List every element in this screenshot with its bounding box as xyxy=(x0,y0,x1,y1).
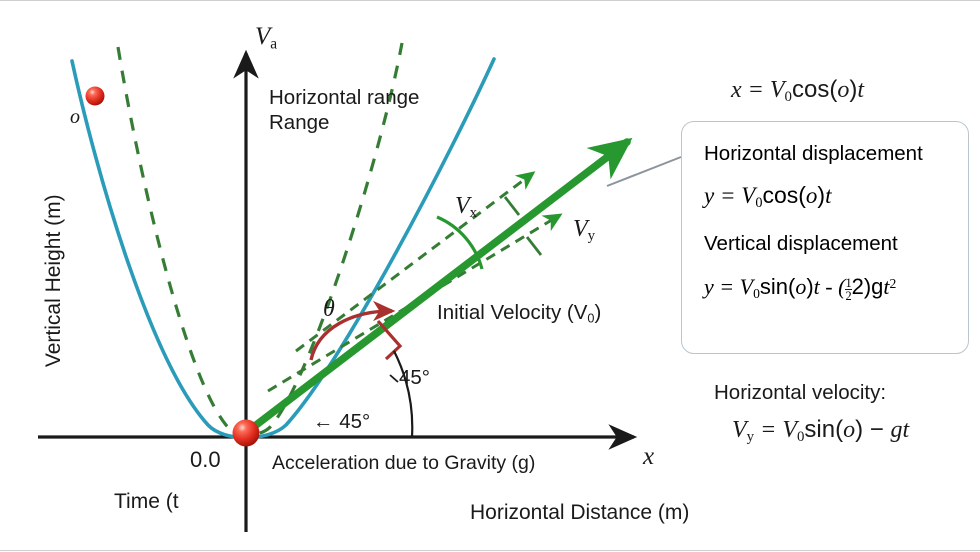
angle-arc-upper xyxy=(394,351,412,437)
c2-lhs: y xyxy=(704,183,714,208)
hv-arg: o xyxy=(843,417,855,443)
vy-label: Vy xyxy=(573,216,595,245)
c4-equals: = xyxy=(714,274,740,299)
equation-vertical-displacement: y = V0sin(o)t - (122)gt2 xyxy=(704,274,896,302)
va-subscript: a xyxy=(270,35,277,52)
projectile-ball-origin xyxy=(233,420,260,447)
callout-leader-line xyxy=(607,157,681,186)
x-axis-arrow-label: x xyxy=(643,443,654,471)
vy-base: V xyxy=(573,216,588,242)
y-axis-title: Vertical Height (m) xyxy=(42,131,66,431)
range-label: Range xyxy=(269,112,329,135)
hv-lhs-sub: y xyxy=(747,429,754,445)
c2-equals: = xyxy=(714,183,741,208)
equation-horizontal-velocity: Vy = V0sin(o) − gt xyxy=(732,417,909,446)
c2-tail: t xyxy=(825,183,831,208)
c4-arg-close: ) xyxy=(806,274,813,299)
hv-v: V xyxy=(782,417,797,443)
c4-mid: t - ( xyxy=(814,274,846,299)
c4-arg: o xyxy=(795,274,806,299)
eq-top-tail: t xyxy=(857,77,864,103)
horizontal-range-label: Horizontal range xyxy=(269,87,419,110)
horizontal-displacement-title: Horizontal displacement xyxy=(704,142,923,166)
hv-lhs: V xyxy=(732,417,747,443)
fraction-denominator: 2 xyxy=(845,289,851,302)
hv-g: g xyxy=(890,417,902,443)
c4-func: sin xyxy=(760,274,788,299)
hv-arg-close: ) xyxy=(855,416,863,443)
hv-equals: = xyxy=(754,417,782,443)
theta-label: θ xyxy=(323,296,335,323)
vy-subscript: y xyxy=(588,228,595,244)
eq-top-lhs: x xyxy=(731,77,742,103)
c4-g: g xyxy=(871,274,883,299)
fraction-numerator: 1 xyxy=(845,277,851,289)
c4-lhs: y xyxy=(704,274,714,299)
horizontal-velocity-title: Horizontal velocity: xyxy=(714,382,886,405)
hv-func: sin xyxy=(804,416,835,443)
eq-top-v-sub: 0 xyxy=(785,89,792,105)
angle-arc-leader xyxy=(390,375,398,382)
angle-lower-value: 45° xyxy=(339,410,370,433)
c2-arg: o xyxy=(806,183,818,208)
vy-tick xyxy=(527,237,541,255)
c4-v-sub: 0 xyxy=(753,286,760,301)
vx-subscript: x xyxy=(470,205,477,221)
eq-top-func: cos xyxy=(792,76,829,103)
equation-horizontal-x: x = V0cos(o)t xyxy=(731,77,864,106)
hv-arg-open: ( xyxy=(835,416,843,443)
equation-horizontal-displacement: y = V0cos(o)t xyxy=(704,182,831,212)
angle-arrow-glyph: ← xyxy=(313,410,334,433)
eq-top-v: V xyxy=(770,77,785,103)
one-half-fraction: 12 xyxy=(845,277,851,303)
hv-minus: − xyxy=(863,416,890,443)
diagram-canvas: Vertical Height (m) Horizontal Distance … xyxy=(0,0,980,551)
va-base: V xyxy=(255,23,270,50)
c2-arg-open: ( xyxy=(798,182,806,208)
c4-t-exponent: 2 xyxy=(890,276,897,291)
c4-v: V xyxy=(740,274,753,299)
c2-v: V xyxy=(741,183,755,208)
c2-arg-close: ) xyxy=(817,182,825,208)
vx-base: V xyxy=(455,193,470,219)
equations-callout-box: Horizontal displacement y = V0cos(o)t Ve… xyxy=(681,121,969,354)
projectile-ball-upper xyxy=(86,87,105,106)
time-axis-label: Time (t xyxy=(114,490,179,514)
angle-label-upper: 45° xyxy=(399,367,430,390)
initial-velocity-vector xyxy=(243,142,627,435)
vertical-displacement-title: Vertical displacement xyxy=(704,232,898,256)
y-axis-arrow-label: Va xyxy=(255,23,277,53)
vx-tick xyxy=(505,197,519,215)
origin-tick-label: 0.0 xyxy=(190,448,221,473)
c4-after-frac: 2) xyxy=(852,274,872,299)
initial-velocity-label: Initial Velocity (V0) xyxy=(437,302,601,326)
angle-label-lower: ← 45° xyxy=(313,411,370,434)
initial-velocity-close: ) xyxy=(594,301,601,324)
point-o-label: o xyxy=(70,106,80,128)
hv-t: t xyxy=(902,417,909,443)
gravity-label: Acceleration due to Gravity (g) xyxy=(272,453,535,475)
vx-label: Vx xyxy=(455,193,477,222)
x-axis-title: Horizontal Distance (m) xyxy=(470,501,689,525)
eq-top-equals: = xyxy=(742,77,770,103)
c2-func: cos xyxy=(762,182,798,208)
eq-top-arg: o xyxy=(837,77,849,103)
initial-velocity-text: Initial Velocity (V xyxy=(437,301,587,324)
